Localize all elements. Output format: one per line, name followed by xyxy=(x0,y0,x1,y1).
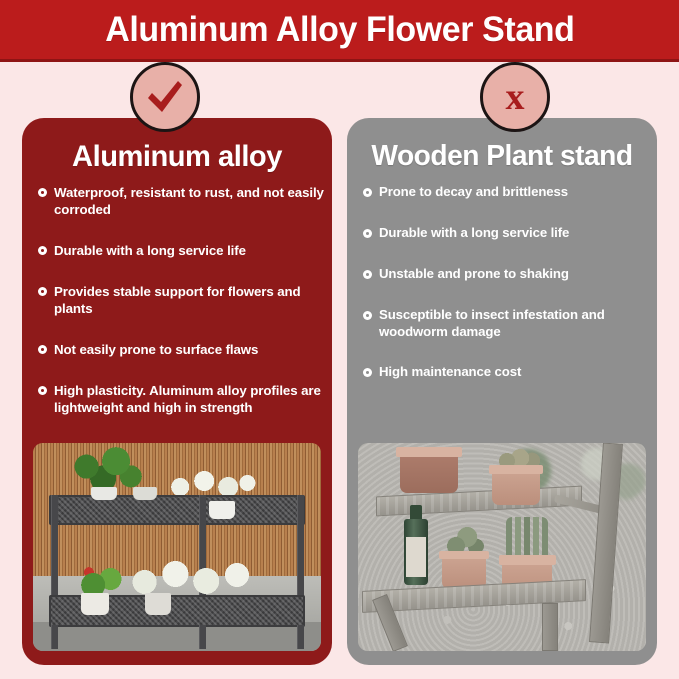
bullet-dot-icon xyxy=(363,270,372,279)
bullet-dot-icon xyxy=(38,386,47,395)
stand-foot-mid xyxy=(199,625,206,649)
upper-shelf xyxy=(49,495,305,525)
bullet-dot-icon xyxy=(363,188,372,197)
bottle-label xyxy=(406,537,426,577)
list-item-label: Susceptible to insect infestation and wo… xyxy=(379,307,605,339)
header-banner: Aluminum Alloy Flower Stand xyxy=(0,0,679,62)
aluminum-alloy-panel: Aluminum alloy Waterproof, resistant to … xyxy=(22,118,332,665)
list-item-label: High plasticity. Aluminum alloy profiles… xyxy=(54,383,321,415)
bullet-dot-icon xyxy=(363,368,372,377)
x-mark-icon: x xyxy=(506,78,525,116)
list-item: Prone to decay and brittleness xyxy=(361,184,649,201)
list-item: Provides stable support for flowers and … xyxy=(36,283,324,317)
list-item-label: Waterproof, resistant to rust, and not e… xyxy=(54,185,324,217)
wooden-stand-panel: Wooden Plant stand Prone to decay and br… xyxy=(347,118,657,665)
large-terracotta-pot xyxy=(400,447,458,493)
front-leg xyxy=(542,603,558,651)
bullet-dot-icon xyxy=(363,229,372,238)
list-item-label: Provides stable support for flowers and … xyxy=(54,284,301,316)
check-mark-icon xyxy=(145,78,185,116)
terracotta-pot-middle xyxy=(442,551,486,589)
stand-foot-right xyxy=(297,625,304,649)
aluminum-alloy-heading: Aluminum alloy xyxy=(27,140,328,174)
aluminum-alloy-bullet-list: Waterproof, resistant to rust, and not e… xyxy=(36,184,324,440)
list-item: Waterproof, resistant to rust, and not e… xyxy=(36,184,324,218)
list-item: Not easily prone to surface flaws xyxy=(36,341,324,358)
wooden-stand-photo xyxy=(358,443,646,651)
white-pot-bottom-mid xyxy=(145,593,171,615)
list-item-label: Prone to decay and brittleness xyxy=(379,184,568,199)
list-item-label: Durable with a long service life xyxy=(379,225,569,240)
wooden-stand-bullet-list: Prone to decay and brittleness Durable w… xyxy=(361,184,649,405)
white-pot-top-mid xyxy=(133,487,157,500)
bullet-dot-icon xyxy=(38,246,47,255)
list-item-label: Unstable and prone to shaking xyxy=(379,266,569,281)
page-title: Aluminum Alloy Flower Stand xyxy=(105,10,574,50)
bullet-dot-icon xyxy=(38,188,47,197)
list-item-label: High maintenance cost xyxy=(379,364,521,379)
list-item: Unstable and prone to shaking xyxy=(361,266,649,283)
negative-badge: x xyxy=(480,62,550,132)
list-item: Durable with a long service life xyxy=(361,225,649,242)
bullet-dot-icon xyxy=(38,345,47,354)
list-item: High maintenance cost xyxy=(361,364,649,381)
list-item: High plasticity. Aluminum alloy profiles… xyxy=(36,382,324,416)
wooden-stand-heading: Wooden Plant stand xyxy=(352,140,653,173)
stand-foot-left xyxy=(51,625,58,649)
white-pot-bottom-left xyxy=(81,593,109,615)
list-item-label: Not easily prone to surface flaws xyxy=(54,342,258,357)
bullet-dot-icon xyxy=(363,311,372,320)
bullet-dot-icon xyxy=(38,287,47,296)
positive-badge xyxy=(130,62,200,132)
white-pot-top-right xyxy=(209,501,235,519)
list-item-label: Durable with a long service life xyxy=(54,243,246,258)
terracotta-pot-upper xyxy=(492,465,540,505)
white-pot-top-left xyxy=(91,487,117,500)
list-item: Durable with a long service life xyxy=(36,242,324,259)
aluminum-stand-photo xyxy=(33,443,321,651)
list-item: Susceptible to insect infestation and wo… xyxy=(361,307,649,341)
